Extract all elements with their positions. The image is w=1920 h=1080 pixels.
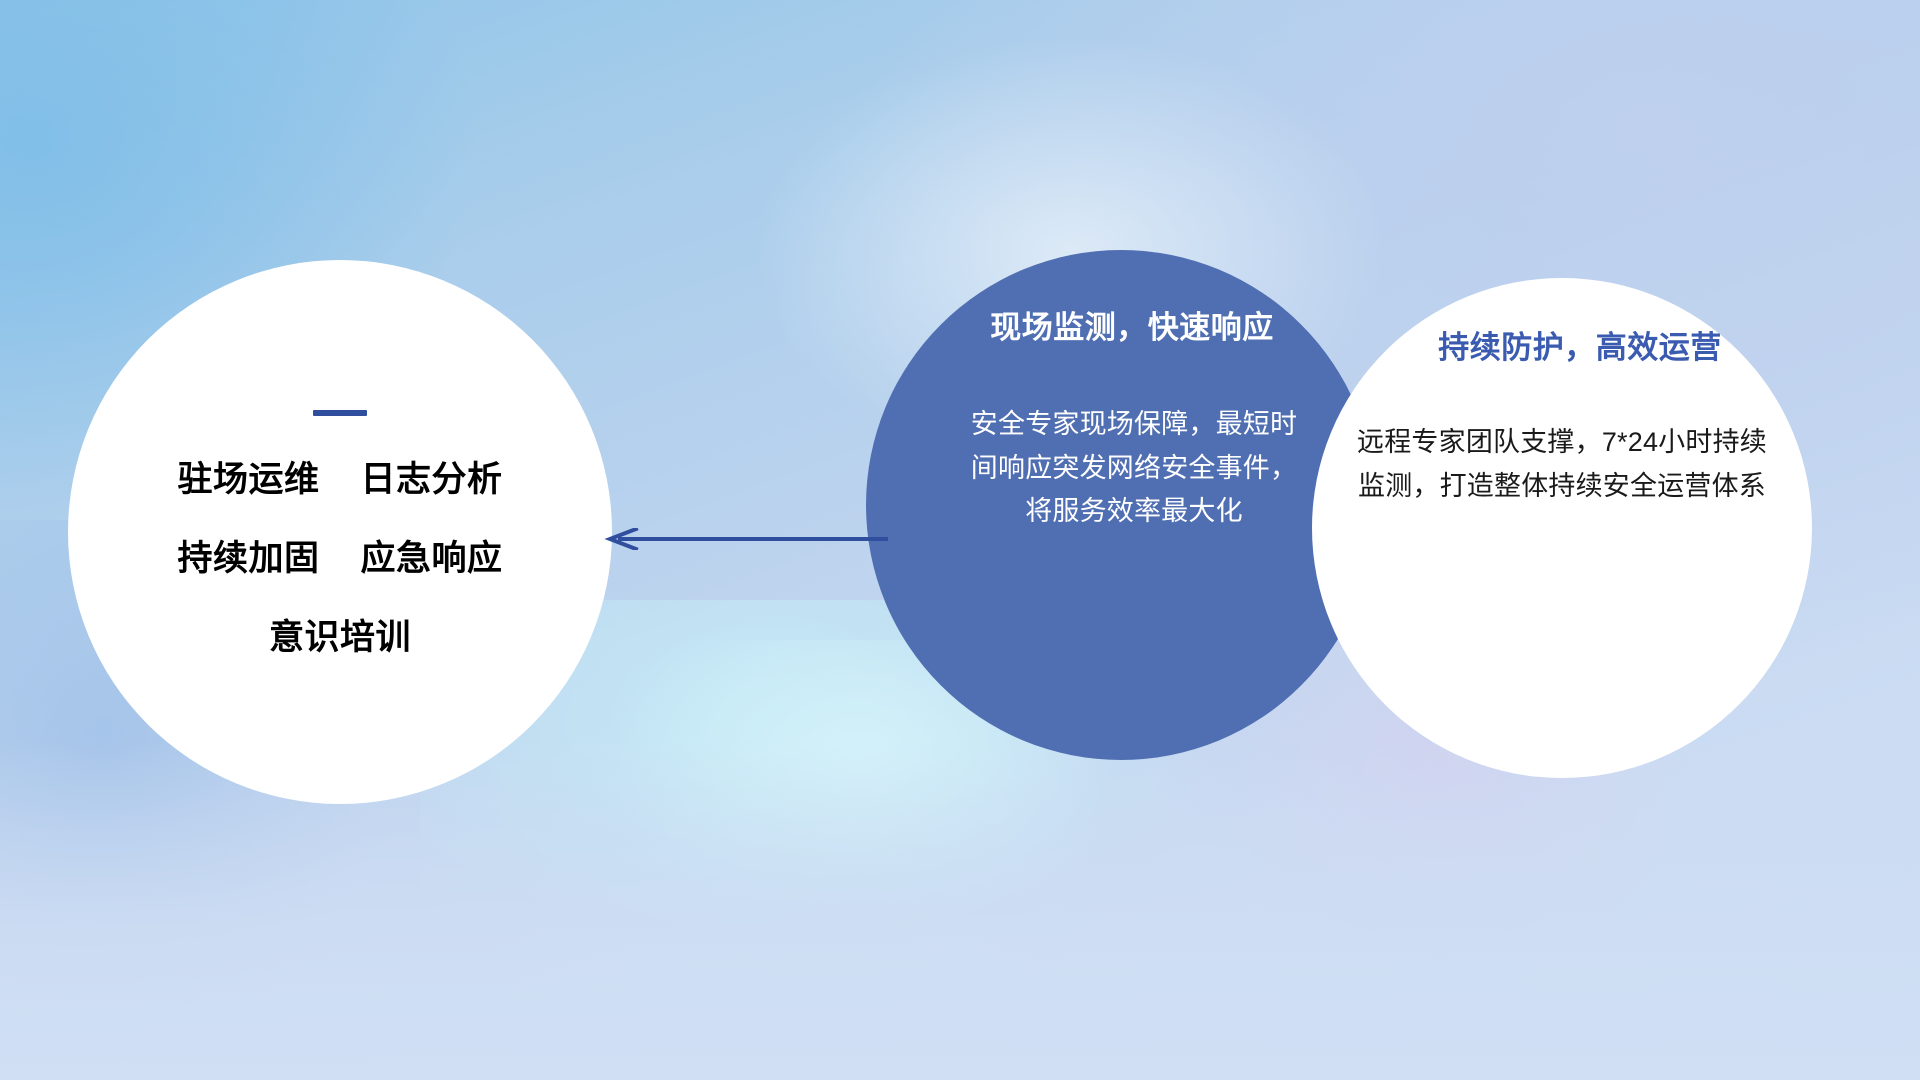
left-keywords-circle: 驻场运维 日志分析 持续加固 应急响应 意识培训 — [68, 260, 612, 804]
arrow-left-svg — [604, 528, 890, 550]
arrow-left-icon — [604, 528, 890, 550]
onsite-monitoring-title: 现场监测，快速响应 — [968, 302, 1274, 347]
continuous-protection-title: 持续防护，高效运营 — [1402, 322, 1722, 367]
onsite-monitoring-body: 安全专家现场保障，最短时间响应突发网络安全事件，将服务效率最大化 — [943, 403, 1299, 534]
continuous-protection-circle: 持续防护，高效运营 远程专家团队支撑，7*24小时持续监测，打造整体持续安全运营… — [1312, 278, 1812, 778]
blue-dash-divider-icon — [313, 410, 367, 416]
left-keyword-row-2: 持续加固 应急响应 — [178, 541, 503, 576]
onsite-monitoring-circle: 现场监测，快速响应 安全专家现场保障，最短时间响应突发网络安全事件，将服务效率最… — [866, 250, 1376, 760]
left-keyword-list: 驻场运维 日志分析 持续加固 应急响应 意识培训 — [178, 462, 503, 655]
continuous-protection-body: 远程专家团队支撑，7*24小时持续监测，打造整体持续安全运营体系 — [1352, 421, 1772, 508]
left-keyword-row-3: 意识培训 — [269, 620, 411, 655]
left-keyword-row-1: 驻场运维 日志分析 — [178, 462, 503, 497]
